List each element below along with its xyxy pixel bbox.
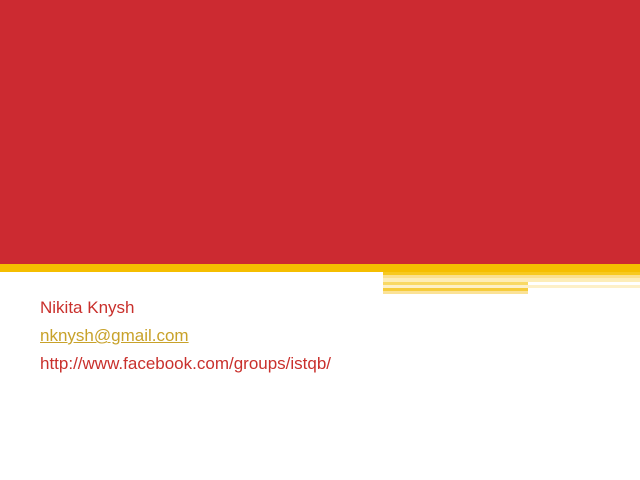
divider-stripe bbox=[528, 288, 640, 291]
facebook-group-url: http://www.facebook.com/groups/istqb/ bbox=[40, 350, 600, 378]
slide-title-line-2: Basics of Test Management bbox=[38, 397, 618, 442]
divider-solid-bar bbox=[0, 264, 640, 272]
slide-subtitle: Nikita Knysh nknysh@gmail.com http://www… bbox=[40, 294, 600, 378]
email-link[interactable]: nknysh@gmail.com bbox=[40, 322, 189, 350]
presentation-slide: Software Testing Foundations #7 Basics o… bbox=[0, 0, 640, 480]
author-name: Nikita Knysh bbox=[40, 294, 600, 322]
